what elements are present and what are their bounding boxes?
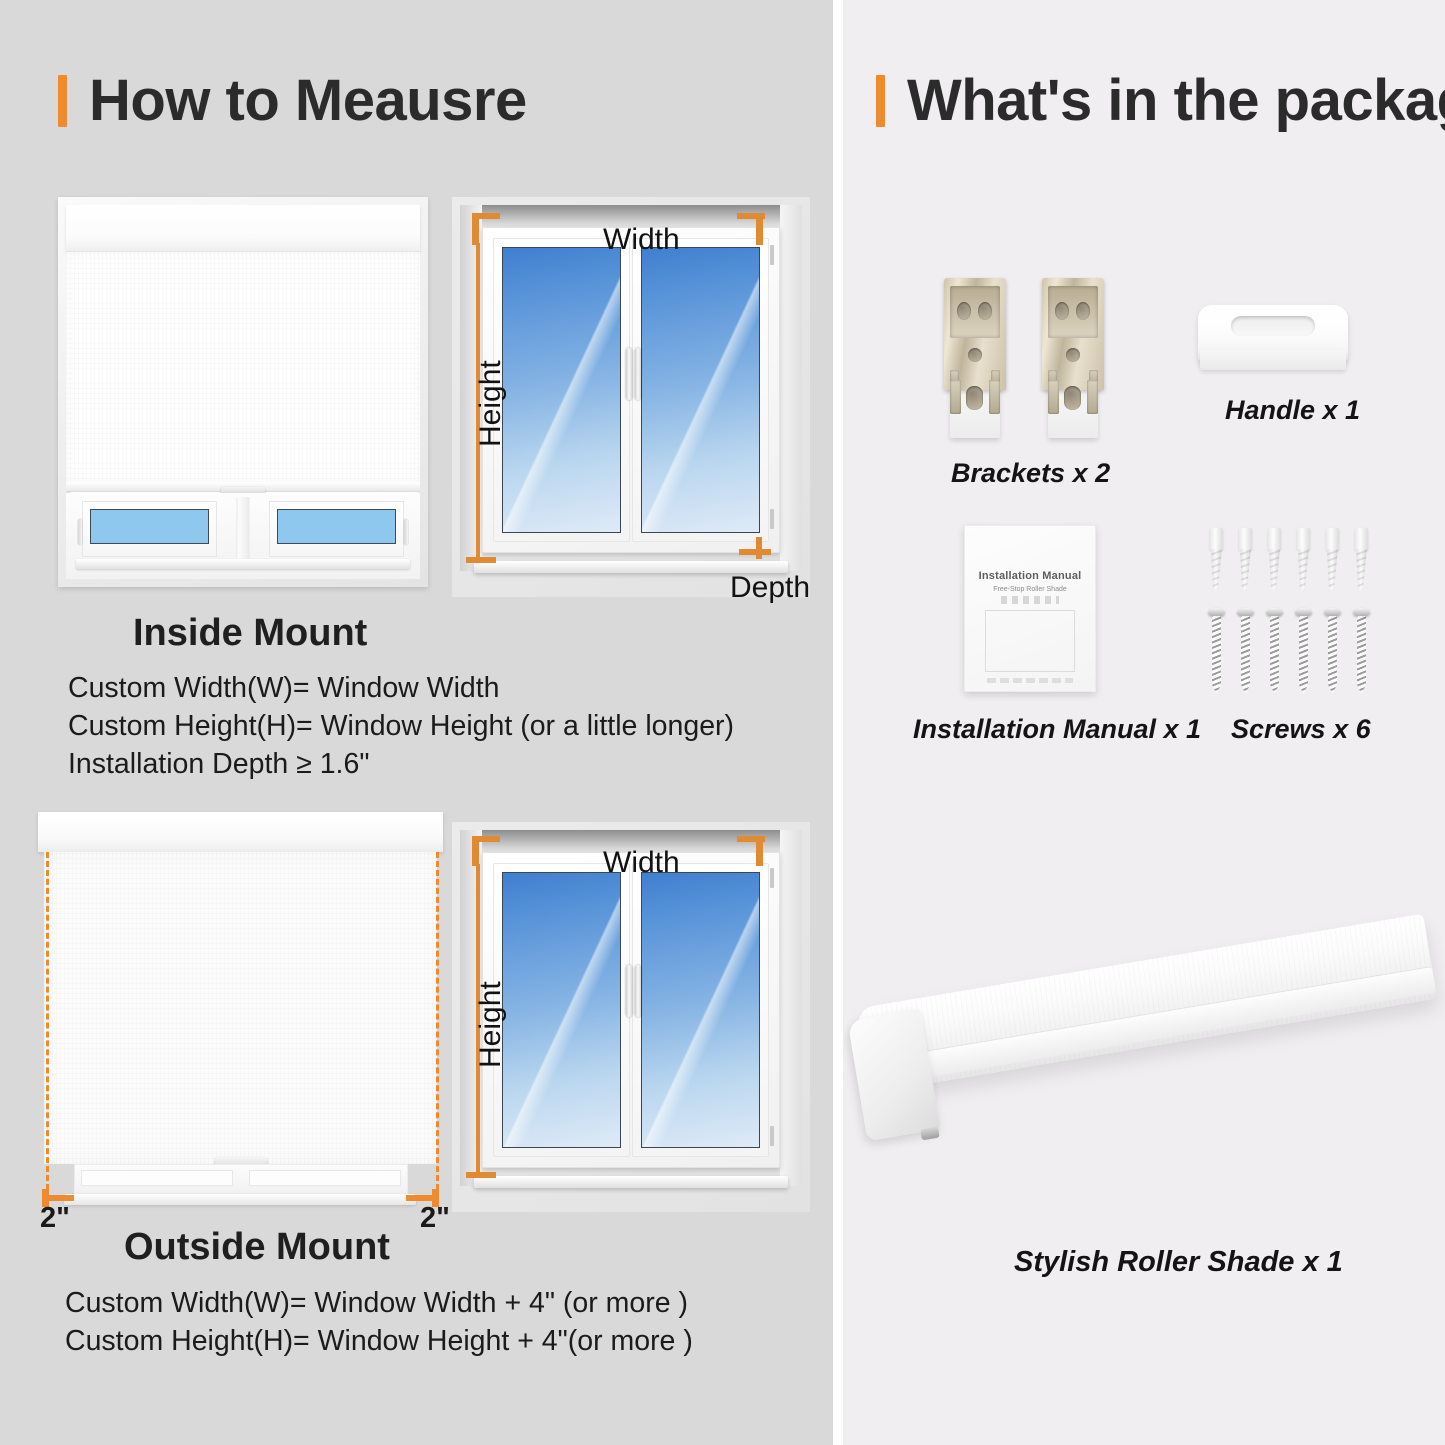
- bracket2-rail-right: [1087, 380, 1098, 414]
- manual-cover-footer: [987, 678, 1073, 683]
- diagram2-sash-left: [493, 863, 630, 1157]
- anchor2-head: [1239, 528, 1252, 550]
- outside-window-behind: [74, 1164, 408, 1196]
- bracket2-metal-body: [1042, 278, 1104, 390]
- anchor5-shaft: [1327, 549, 1338, 590]
- diagram2-glass-left: [502, 872, 621, 1148]
- screw2-head: [1237, 608, 1254, 617]
- screws-label: Screws x 6: [1231, 714, 1371, 745]
- roller-shade-icon: [843, 890, 1445, 1230]
- anchor1-head: [1210, 528, 1223, 550]
- screw2-body: [1241, 616, 1250, 694]
- anchor1-shaft: [1211, 549, 1222, 590]
- window-jamb-right-2: [780, 830, 802, 1186]
- bracket-rail-left: [950, 380, 961, 414]
- width-mark-right-horizontal: [737, 213, 765, 219]
- width2-mark-right-horizontal: [737, 836, 765, 842]
- label-height-inside: Height: [474, 360, 508, 447]
- window-jamb-right: [780, 205, 802, 571]
- anchor2-shaft: [1240, 549, 1251, 590]
- window-sash-right: [269, 501, 404, 557]
- overhang-label-right: 2": [420, 1202, 450, 1235]
- bracket-metal-body: [944, 278, 1006, 390]
- screw6-head: [1353, 608, 1370, 617]
- anchor-icon-3: [1266, 528, 1283, 590]
- window-glass-left: [90, 509, 209, 544]
- label-width-outside: Width: [603, 846, 680, 880]
- bracket2-hole-1: [1055, 302, 1069, 320]
- overhang-arrow-left: [42, 1195, 74, 1201]
- diagram2-sash-right: [632, 863, 769, 1157]
- window-handle-right-icon-2: [635, 965, 641, 1017]
- screw6-body: [1357, 616, 1366, 694]
- shade-valance: [66, 205, 420, 252]
- height2-mark-bottom-tick: [466, 1172, 496, 1178]
- left-heading: How to Meausre: [58, 72, 527, 130]
- screw3-body: [1270, 616, 1279, 694]
- screw1-head: [1208, 608, 1225, 617]
- diagram2-glass-right: [641, 872, 760, 1148]
- anchor3-head: [1268, 528, 1281, 550]
- anchor-icon-1: [1208, 528, 1225, 590]
- window-sill: [76, 559, 410, 569]
- outside-mount-window-diagram: Width Height: [452, 822, 810, 1212]
- anchor-icon-4: [1295, 528, 1312, 590]
- label-depth-inside: Depth: [730, 571, 810, 605]
- depth-mark-horizontal: [739, 549, 771, 555]
- outside-mount-title: Outside Mount: [124, 1226, 390, 1269]
- depth-mark-vertical: [756, 537, 762, 559]
- window-handle-left-icon-2: [626, 965, 632, 1017]
- inside-mount-text: Custom Width(W)= Window Width Custom Hei…: [68, 670, 734, 785]
- screw3-head: [1266, 608, 1283, 617]
- brackets-label: Brackets x 2: [951, 458, 1110, 489]
- infographic-page: How to Meausre: [0, 0, 1445, 1445]
- diagram2-window-sill: [474, 1176, 788, 1188]
- bracket2-hole-2: [1076, 302, 1090, 320]
- bracket-rail-right: [989, 380, 1000, 414]
- bracket-hole-3: [968, 348, 982, 362]
- anchor-icon-5: [1324, 528, 1341, 590]
- screw-icon-4: [1295, 608, 1312, 694]
- handle-lip: [1200, 350, 1346, 370]
- anchor-icon-6: [1353, 528, 1370, 590]
- diagram-sash-left: [493, 238, 630, 542]
- outside-mount-text: Custom Width(W)= Window Width + 4" (or m…: [65, 1285, 693, 1361]
- manual-label: Installation Manual x 1: [913, 714, 1201, 745]
- window-hinge-right-icon: [404, 519, 408, 545]
- manual-cover-subtitle: Free-Stop Roller Shade: [965, 586, 1095, 593]
- screw4-head: [1295, 608, 1312, 617]
- window-frame-2: [482, 852, 780, 1168]
- outside-mount-line-2: Custom Height(H)= Window Height + 4"(or …: [65, 1323, 693, 1359]
- screw5-body: [1328, 616, 1337, 694]
- height-mark-bottom-tick: [466, 557, 496, 563]
- inside-mount-line-3: Installation Depth ≥ 1.6": [68, 746, 734, 782]
- inside-mount-line-1: Custom Width(W)= Window Width: [68, 670, 734, 706]
- hinge-tick-top-icon-2: [770, 868, 774, 888]
- overhang-arrow-right: [406, 1195, 438, 1201]
- outside-mount-shade-illustration: [38, 812, 443, 1202]
- width2-mark-left-horizontal: [472, 836, 500, 842]
- anchor6-head: [1355, 528, 1368, 550]
- window-handle-left-icon: [626, 348, 632, 400]
- anchor4-head: [1297, 528, 1310, 550]
- screw5-head: [1324, 608, 1341, 617]
- inside-mount-line-2: Custom Height(H)= Window Height (or a li…: [68, 708, 734, 744]
- manual-cover-scribble: [1001, 596, 1059, 604]
- window-mullion: [237, 497, 250, 561]
- handle-icon: [1198, 305, 1348, 377]
- bracket2-hole-3: [1066, 348, 1080, 362]
- inside-mount-shade-illustration: [58, 197, 428, 587]
- hinge-tick-top-icon: [770, 245, 774, 265]
- right-heading: What's in the package: [876, 72, 1445, 130]
- bracket-icon: [944, 278, 1006, 438]
- outside-shade-fabric: [44, 852, 437, 1164]
- outside-window-pane-right: [249, 1170, 401, 1186]
- outside-window-pane-left: [81, 1170, 233, 1186]
- label-height-outside: Height: [474, 981, 508, 1068]
- screw-icon-5: [1324, 608, 1341, 694]
- inside-mount-title: Inside Mount: [133, 612, 367, 655]
- accent-bar-right: [876, 75, 885, 127]
- window-lower-opening: [66, 493, 420, 579]
- shade-fabric: [66, 252, 420, 484]
- manual-cover-figure: [985, 610, 1075, 672]
- outside-shade-valance: [38, 812, 443, 852]
- anchor3-shaft: [1269, 549, 1280, 590]
- window-glass-right: [277, 509, 396, 544]
- roller-shade-end-cap: [847, 1009, 940, 1142]
- roller-shade-tube: [856, 914, 1437, 1094]
- hinge-tick-bottom-icon: [770, 509, 774, 529]
- handle-cutout: [1231, 316, 1315, 336]
- handle-label: Handle x 1: [1225, 395, 1360, 426]
- diagram-sash-right: [632, 238, 769, 542]
- right-heading-text: What's in the package: [907, 72, 1445, 130]
- screw-icon-6: [1353, 608, 1370, 694]
- diagram-glass-left: [502, 247, 621, 533]
- bracket2-rail-left: [1048, 380, 1059, 414]
- manual-icon: Installation Manual Free-Stop Roller Sha…: [964, 525, 1096, 692]
- bracket-hole-2: [978, 302, 992, 320]
- width-mark-left-horizontal: [472, 213, 500, 219]
- bracket-hole-1: [957, 302, 971, 320]
- overhang-dashline-left: [46, 852, 49, 1190]
- outside-mount-line-1: Custom Width(W)= Window Width + 4" (or m…: [65, 1285, 693, 1321]
- anchor4-shaft: [1298, 549, 1309, 590]
- accent-bar-left: [58, 75, 67, 127]
- anchor-icon-2: [1237, 528, 1254, 590]
- panel-divider: [833, 0, 843, 1445]
- bracket2-mount-hole: [1064, 386, 1081, 410]
- screw-icon-1: [1208, 608, 1225, 694]
- inside-mount-window-diagram: Width Height Depth: [452, 197, 810, 597]
- how-to-measure-panel: How to Meausre: [0, 0, 833, 1445]
- diagram-glass-right: [641, 247, 760, 533]
- window-frame: [482, 227, 780, 553]
- bracket-icon-2: [1042, 278, 1104, 438]
- bracket-mount-hole: [966, 386, 983, 410]
- screw-icon-2: [1237, 608, 1254, 694]
- screw-icon-3: [1266, 608, 1283, 694]
- overhang-dashline-right: [436, 852, 439, 1190]
- overhang-label-left: 2": [40, 1202, 70, 1235]
- manual-cover-title: Installation Manual: [965, 570, 1095, 582]
- hinge-tick-bottom-icon-2: [770, 1126, 774, 1146]
- screw4-body: [1299, 616, 1308, 694]
- anchor6-shaft: [1356, 549, 1367, 590]
- left-heading-text: How to Meausre: [89, 72, 527, 130]
- roller-shade-label: Stylish Roller Shade x 1: [1014, 1246, 1343, 1279]
- screw1-body: [1212, 616, 1221, 694]
- roller-shade-pin: [920, 1127, 940, 1141]
- window-handle-right-icon: [635, 348, 641, 400]
- window-hinge-left-icon: [78, 519, 82, 545]
- package-contents-panel: What's in the package: [843, 0, 1445, 1445]
- anchor5-head: [1326, 528, 1339, 550]
- outside-window-sill: [64, 1194, 416, 1205]
- label-width-inside: Width: [603, 223, 680, 257]
- window-sash-left: [82, 501, 217, 557]
